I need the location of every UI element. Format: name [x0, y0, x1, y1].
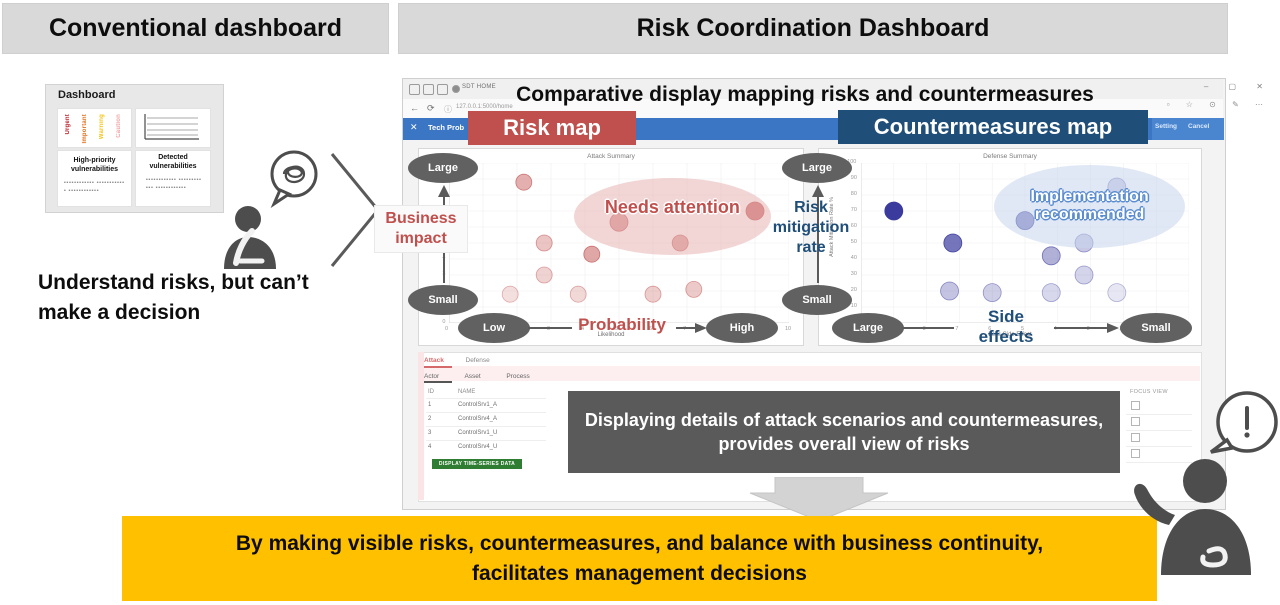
conclusion-banner-text: By making visible risks, countermeasures… — [190, 529, 1090, 589]
focus-view-checkbox[interactable] — [1131, 417, 1140, 426]
header-conventional-label: Conventional dashboard — [49, 14, 342, 43]
severity-label-urgent: Urgent — [65, 114, 71, 135]
focus-view-checkbox[interactable] — [1131, 401, 1140, 410]
conclusion-banner: By making visible risks, countermeasures… — [122, 516, 1157, 601]
pill-probability-high: High — [706, 313, 778, 343]
defense-summary-title: Defense Summary — [819, 153, 1201, 160]
risk-mitigation-rate-label: Risk mitigation rate — [766, 198, 856, 258]
table-row-divider — [426, 426, 546, 427]
table-row[interactable]: 1 — [428, 402, 431, 408]
high-priority-vulnerabilities-title: High-priorityvulnerabilities — [58, 157, 131, 175]
subtab-asset[interactable]: Asset — [464, 373, 480, 380]
pill-side-effect-small: Small — [1120, 313, 1192, 343]
implementation-recommended-label: Implementation recommended — [1000, 188, 1180, 225]
pill-side-effect-large: Large — [832, 313, 904, 343]
decision-maker-person-icon — [1125, 455, 1280, 575]
column-header-name: NAME — [458, 389, 475, 395]
setting-button[interactable]: Setting — [1155, 123, 1177, 130]
high-priority-vulnerabilities-box: High-priorityvulnerabilities ▪▪▪▪▪▪▪▪▪▪▪… — [57, 150, 132, 207]
confused-thought-bubble-icon — [262, 148, 322, 208]
conventional-caption: Understand risks, but can’t make a decis… — [38, 268, 338, 328]
header-risk-dashboard: Risk Coordination Dashboard — [398, 3, 1228, 54]
placeholder-dots: ▪▪▪▪▪▪▪▪▪▪▪▪ ▪▪▪▪▪▪▪▪▪▪▪▪ ▪▪▪▪▪▪▪▪▪▪▪▪ — [64, 180, 126, 196]
probability-label: Probability — [566, 315, 678, 335]
conventional-dashboard-title: Dashboard — [58, 89, 115, 101]
focus-view-divider — [1126, 446, 1192, 447]
side-effects-label: Side effects — [960, 307, 1052, 348]
info-icon: ⓘ — [444, 104, 452, 115]
table-subtabs[interactable]: Actor Asset Process — [424, 373, 530, 380]
focus-view-label: FOCUS VIEW — [1130, 389, 1168, 395]
focus-view-divider — [1126, 414, 1192, 415]
pill-probability-low: Low — [458, 313, 530, 343]
overlay-risk-map-label: Risk map — [468, 111, 636, 145]
business-impact-label: Business impact — [374, 205, 468, 253]
table-row[interactable]: 4 — [428, 444, 431, 450]
column-header-id: ID — [428, 389, 434, 395]
overlay-details-text: Displaying details of attack scenarios a… — [568, 391, 1120, 473]
window-control-buttons[interactable]: – ▢ ✕ — [1204, 82, 1272, 91]
close-icon[interactable]: ✕ — [410, 122, 418, 133]
side-effect-axis-arrow-icon — [1054, 320, 1120, 336]
thinking-person-icon — [218, 205, 293, 270]
header-conventional: Conventional dashboard — [2, 3, 389, 54]
tab-defense[interactable]: Defense — [466, 357, 490, 364]
pill-impact-large: Large — [408, 153, 478, 183]
back-arrow-icon[interactable]: ← — [410, 103, 419, 113]
tab-attack[interactable]: Attack — [424, 357, 444, 364]
tab-preview-icon[interactable] — [437, 84, 448, 95]
severity-label-warning: Warning — [99, 114, 105, 139]
table-row-divider — [426, 440, 546, 441]
pill-mitigation-large: Large — [782, 153, 852, 183]
collections-icon[interactable] — [423, 84, 434, 95]
overlay-comparative-title: Comparative display mapping risks and co… — [505, 80, 1105, 110]
overlay-countermeasures-map-label: Countermeasures map — [838, 110, 1148, 144]
table-row-divider — [426, 398, 546, 399]
favicon-icon — [452, 85, 460, 93]
needs-attention-label: Needs attention — [582, 197, 762, 218]
detected-vulnerabilities-title: Detectedvulnerabilities — [136, 154, 210, 172]
detected-vulnerabilities-box: Detectedvulnerabilities ▪▪▪▪▪▪▪▪▪▪▪▪ ▪▪▪… — [135, 150, 211, 207]
profile-icon[interactable] — [409, 84, 420, 95]
subtab-strip — [418, 366, 1200, 381]
app-title: Tech Prob — [428, 123, 464, 132]
table-tabs[interactable]: Attack Defense — [424, 357, 490, 364]
table-row[interactable]: ControlSrv4_A — [458, 416, 497, 422]
subtab-actor[interactable]: Actor — [424, 373, 439, 380]
cancel-button[interactable]: Cancel — [1188, 123, 1209, 130]
browser-tab-title[interactable]: SDT HOME — [462, 84, 496, 90]
sparkline-chart-icon — [142, 112, 202, 142]
severity-label-important: Important — [82, 114, 88, 143]
header-risk-dashboard-label: Risk Coordination Dashboard — [637, 14, 990, 43]
tab-attack-underline — [424, 366, 452, 368]
focus-view-checkbox[interactable] — [1131, 433, 1140, 442]
attack-summary-title: Attack Summary — [419, 153, 803, 160]
severity-legend-box: Urgent Important Warning Caution — [57, 108, 132, 148]
placeholder-dots: ▪▪▪▪▪▪▪▪▪▪▪▪ ▪▪▪▪▪▪▪▪▪▪▪▪ ▪▪▪▪▪▪▪▪▪▪▪▪ — [146, 177, 202, 193]
side-effect-axis-line-icon — [902, 320, 954, 336]
probability-axis-arrow-icon — [676, 320, 708, 336]
pill-impact-small: Small — [408, 285, 478, 315]
subtab-process[interactable]: Process — [506, 373, 529, 380]
table-row[interactable]: ControlSrv4_U — [458, 444, 497, 450]
browser-toolbar-icons[interactable]: ▫ ☆ ⊙ ✎ ⋯ — [1167, 100, 1270, 109]
display-time-series-button[interactable]: DISPLAY TIME-SERIES DATA — [432, 459, 522, 469]
severity-label-caution: Caution — [116, 114, 122, 138]
reload-icon[interactable]: ⟳ — [427, 103, 435, 114]
table-row[interactable]: ControlSrv1_A — [458, 402, 497, 408]
focus-view-divider — [1126, 430, 1192, 431]
subtab-actor-underline — [424, 381, 452, 383]
table-row[interactable]: ControlSrv1_U — [458, 430, 497, 436]
table-row[interactable]: 2 — [428, 416, 431, 422]
pill-mitigation-small: Small — [782, 285, 852, 315]
table-row-divider — [426, 412, 546, 413]
table-row[interactable]: 3 — [428, 430, 431, 436]
